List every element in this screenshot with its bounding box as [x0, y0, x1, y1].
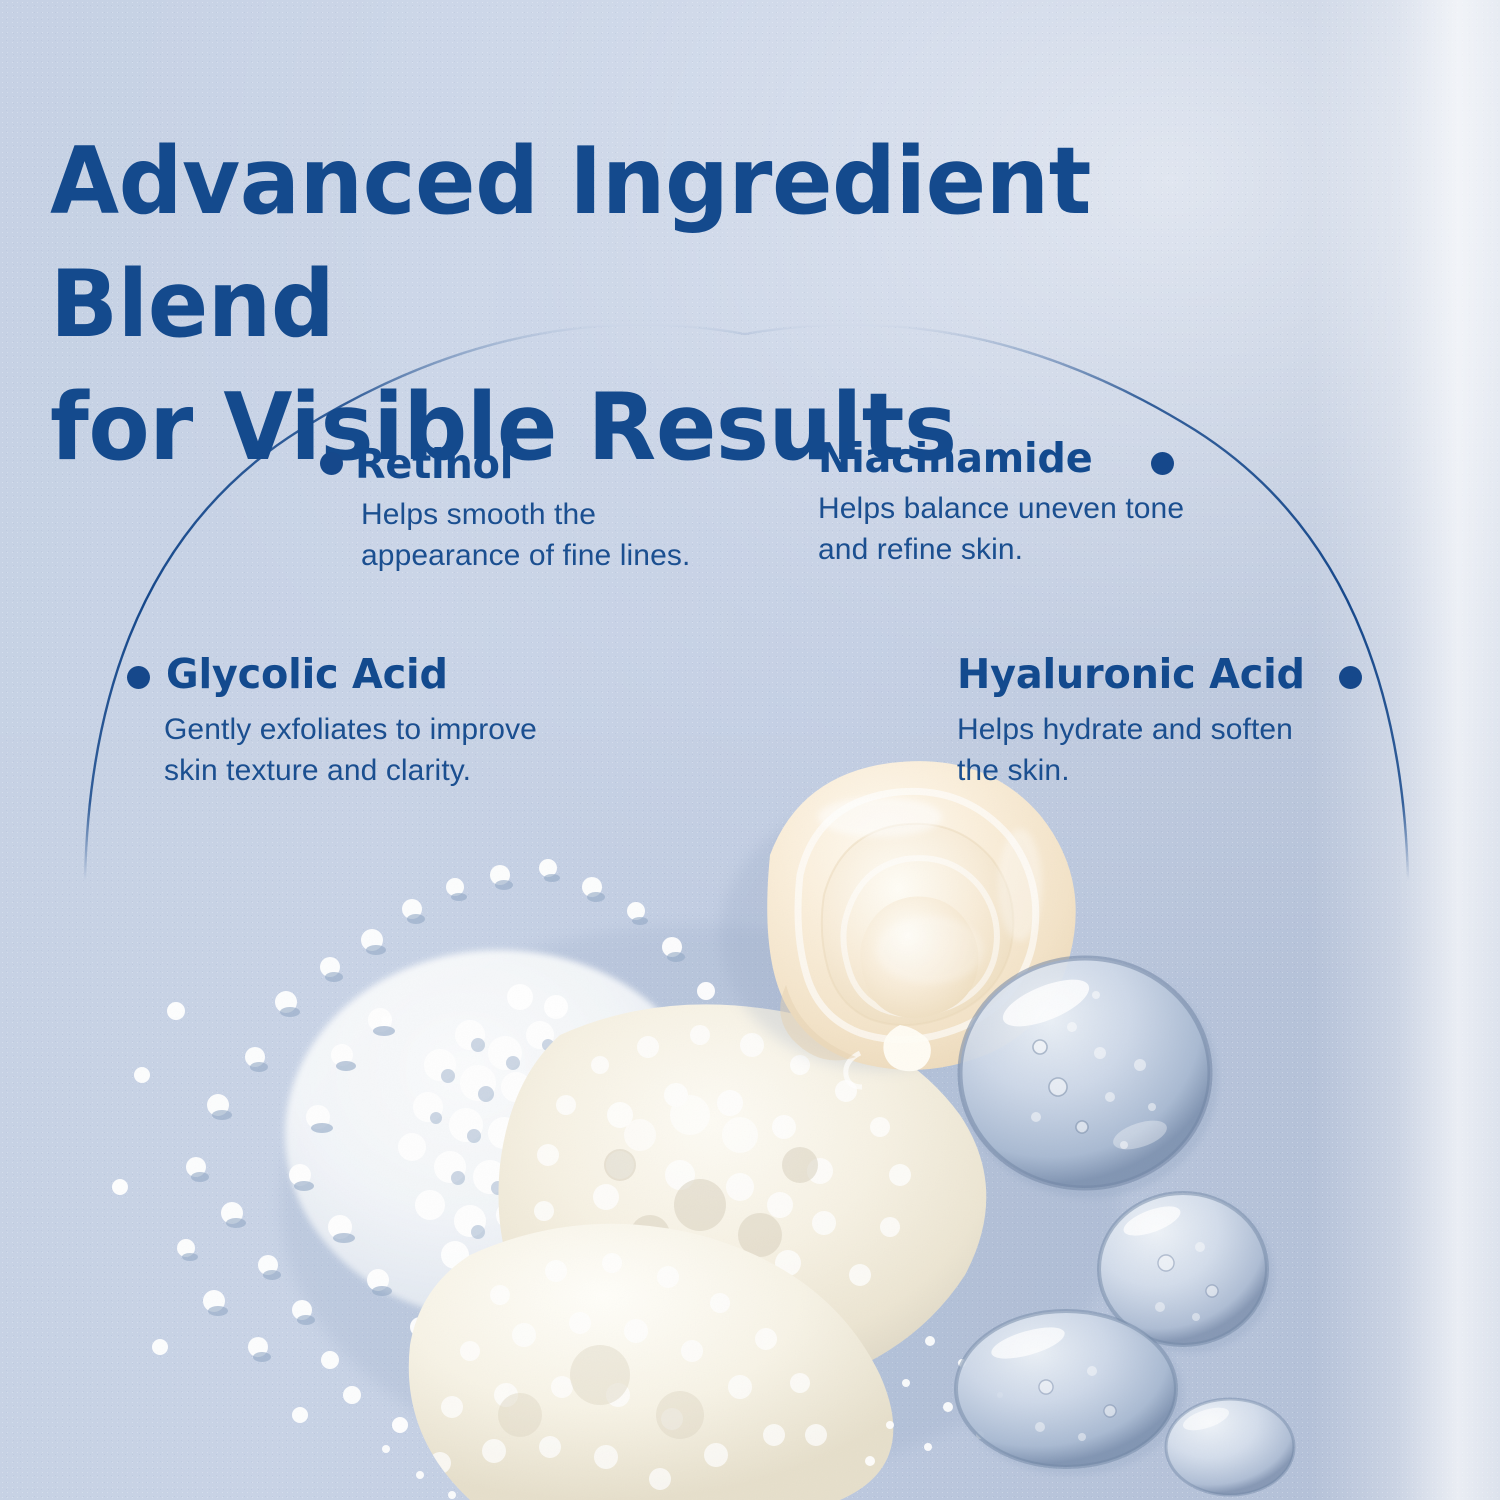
ingredient-callout-glycolic-acid: Glycolic Acid Gently exfoliates to impro…: [166, 653, 537, 791]
ingredient-name-retinol: Retinol: [355, 443, 680, 486]
ingredient-description-hyaluronic-acid: Helps hydrate and soften the skin.: [957, 710, 1316, 791]
ingredient-name-glycolic-acid: Glycolic Acid: [166, 653, 526, 696]
ingredient-name-hyaluronic-acid: Hyaluronic Acid: [957, 653, 1305, 696]
ingredient-name-niacinamide: Niacinamide: [818, 437, 1173, 480]
arc-dot-glycolic-acid: [127, 666, 150, 689]
arc-dot-hyaluronic-acid: [1339, 666, 1362, 689]
ingredient-callout-niacinamide: Niacinamide Helps balance uneven tone an…: [818, 437, 1184, 570]
ingredient-description-glycolic-acid: Gently exfoliates to improve skin textur…: [164, 710, 537, 791]
infographic-canvas: Advanced Ingredient Blend for Visible Re…: [0, 0, 1500, 1500]
ingredient-callout-hyaluronic-acid: Hyaluronic Acid Helps hydrate and soften…: [957, 653, 1316, 791]
ingredient-description-niacinamide: Helps balance uneven tone and refine ski…: [818, 489, 1184, 570]
ingredient-description-retinol: Helps smooth the appearance of fine line…: [361, 495, 690, 576]
arc-dot-retinol: [320, 452, 343, 475]
product-ingredient-photo: [0, 735, 1500, 1500]
ingredient-callout-retinol: Retinol Helps smooth the appearance of f…: [355, 443, 690, 576]
page-title: Advanced Ingredient Blend for Visible Re…: [50, 120, 1384, 488]
